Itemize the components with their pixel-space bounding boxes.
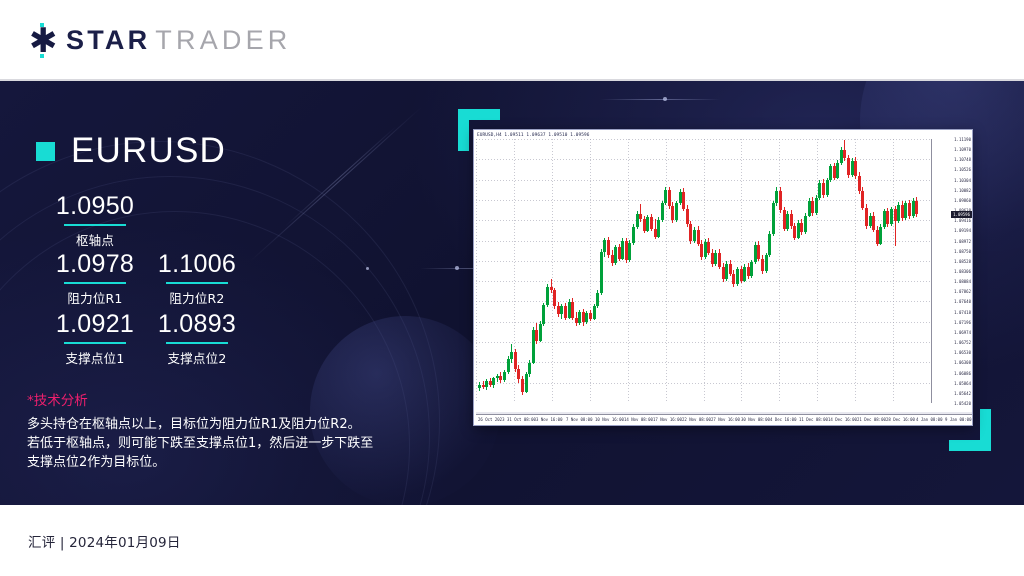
candle-body <box>732 274 735 285</box>
candle-body <box>614 247 617 263</box>
candlestick <box>804 139 807 403</box>
level-pivot-label: 枢轴点 <box>30 230 160 249</box>
time-axis-tick: 17 Nov 16:00 <box>653 417 682 423</box>
time-axis-tick: 7 Nov 08:00 <box>566 417 593 423</box>
candlestick <box>553 139 556 403</box>
time-axis-tick: 31 Oct 08:00 <box>507 417 536 423</box>
candle-body <box>671 206 674 220</box>
candle-body <box>714 253 717 264</box>
candle-body <box>725 264 728 279</box>
price-axis-tick: 1.07862 <box>954 289 971 294</box>
candlestick <box>829 139 832 403</box>
price-axis-tick: 1.11190 <box>954 137 971 142</box>
time-axis-tick: 10 Nov 16:00 <box>595 417 624 423</box>
candle-body <box>664 190 667 203</box>
analysis-title: *技术分析 <box>27 389 417 409</box>
time-axis-tick: 14 Dec 16:00 <box>828 417 857 423</box>
price-axis-tick: 1.05864 <box>954 381 971 386</box>
candlestick <box>725 139 728 403</box>
analysis-line-2: 若低于枢轴点，则可能下跌至支撑点位1，然后进一步下跌至 <box>27 434 417 453</box>
candle-body <box>596 293 599 306</box>
price-axis-tick: 1.09860 <box>954 198 971 203</box>
candle-body <box>521 379 524 391</box>
star-asterisk-icon: ✱ <box>26 20 60 60</box>
candlestick <box>682 139 685 403</box>
candlestick <box>528 139 531 403</box>
candle-body <box>811 201 814 213</box>
analysis-line-3: 支撑点位2作为目标位。 <box>27 453 417 472</box>
candlestick <box>492 139 495 403</box>
candlestick <box>585 139 588 403</box>
brand-wordmark: STAR TRADER <box>66 25 292 56</box>
chart-gridline-vertical <box>476 139 477 403</box>
candlestick <box>786 139 789 403</box>
candle-body <box>499 376 502 380</box>
chart-zone: EURUSD,H4 1.09511 1.09637 1.09510 1.0959… <box>443 109 1003 479</box>
candlestick <box>793 139 796 403</box>
candlestick-chart[interactable]: EURUSD,H4 1.09511 1.09637 1.09510 1.0959… <box>473 129 973 426</box>
candle-body <box>736 269 739 284</box>
candle-body <box>564 306 567 317</box>
candlestick <box>908 139 911 403</box>
level-s1-underline <box>64 342 126 344</box>
candlestick <box>779 139 782 403</box>
candlestick <box>718 139 721 403</box>
candlestick <box>621 139 624 403</box>
brand-name-bold: STAR <box>66 25 150 56</box>
candle-body <box>843 150 846 159</box>
candlestick <box>510 139 513 403</box>
candle-body <box>503 372 506 380</box>
candlestick <box>757 139 760 403</box>
candlestick <box>614 139 617 403</box>
bracket-tl-vertical <box>458 109 469 151</box>
candlestick <box>535 139 538 403</box>
brand-name-light: TRADER <box>155 25 291 56</box>
candle-body <box>886 211 889 224</box>
candlestick <box>632 139 635 403</box>
candlestick <box>872 139 875 403</box>
price-axis[interactable]: 1.111901.109701.107481.105261.103041.100… <box>931 139 972 403</box>
time-axis-tick: 27 Nov 16:00 <box>711 417 740 423</box>
level-r2-underline <box>166 282 228 284</box>
candle-body <box>528 363 531 374</box>
level-pivot-underline <box>64 224 126 226</box>
candle-body <box>750 262 753 276</box>
main-stage: EURUSD 1.0950 枢轴点 1.0978 阻力位R1 1.1006 阻力… <box>0 81 1024 505</box>
candlestick <box>675 139 678 403</box>
candle-body <box>786 214 789 229</box>
price-axis-tick: 1.10526 <box>954 167 971 172</box>
candlestick <box>657 139 660 403</box>
candle-body <box>553 290 556 306</box>
price-axis-tick: 1.10304 <box>954 178 971 183</box>
candlestick <box>596 139 599 403</box>
candlestick <box>897 139 900 403</box>
decor-hairline-2 <box>600 99 720 100</box>
time-axis-tick: 11 Dec 08:00 <box>799 417 828 423</box>
candlestick <box>499 139 502 403</box>
time-axis-tick: 14 Nov 08:00 <box>624 417 653 423</box>
price-axis-tick: 1.09194 <box>954 228 971 233</box>
time-axis-tick: 9 Jan 00:00 <box>945 417 972 423</box>
price-axis-tick: 1.08084 <box>954 279 971 284</box>
candle-body <box>757 245 760 259</box>
candlestick <box>664 139 667 403</box>
level-pivot: 1.0950 枢轴点 <box>30 191 160 249</box>
candle-body <box>861 191 864 208</box>
price-axis-tick: 1.07196 <box>954 320 971 325</box>
candle-body <box>693 230 696 241</box>
poster-root: ✱ STAR TRADER <box>0 0 1024 576</box>
price-axis-tick: 1.06974 <box>954 330 971 335</box>
candle-body <box>517 369 520 380</box>
candle-body <box>571 302 574 318</box>
candle-body <box>675 203 678 220</box>
candle-body <box>872 216 875 230</box>
candlestick <box>639 139 642 403</box>
candlestick <box>865 139 868 403</box>
candlestick <box>564 139 567 403</box>
price-axis-tick: 1.10970 <box>954 147 971 152</box>
candlestick <box>607 139 610 403</box>
price-axis-tick: 1.10748 <box>954 157 971 162</box>
candlestick <box>861 139 864 403</box>
logo-star-glyph: ✱ <box>29 28 55 54</box>
candlestick <box>854 139 857 403</box>
candlestick <box>775 139 778 403</box>
candlestick <box>915 139 918 403</box>
level-s2-label: 支撑点位2 <box>132 348 262 367</box>
price-axis-tick: 1.07418 <box>954 310 971 315</box>
candle-body <box>560 306 563 314</box>
candle-body <box>818 183 821 198</box>
candle-body <box>632 227 635 243</box>
level-r2-value: 1.1006 <box>132 249 262 279</box>
analysis-line-1: 多头持仓在枢轴点以上，目标位为阻力位R1及阻力位R2。 <box>27 415 417 434</box>
time-axis-tick: 3 Nov 16:00 <box>536 417 563 423</box>
brand-logo[interactable]: ✱ STAR TRADER <box>26 20 292 60</box>
level-s2: 1.0893 支撑点位2 <box>132 309 262 367</box>
price-axis-tick: 1.05642 <box>954 391 971 396</box>
time-axis-tick: 22 Nov 08:00 <box>682 417 711 423</box>
level-r2-label: 阻力位R2 <box>132 288 262 307</box>
time-axis-tick: 28 Dec 16:00 <box>886 417 915 423</box>
candlestick <box>822 139 825 403</box>
time-axis-tick: 4 Jan 08:00 <box>916 417 943 423</box>
candle-body <box>822 183 825 195</box>
price-axis-tick: 1.06530 <box>954 350 971 355</box>
page-header: ✱ STAR TRADER <box>0 0 1024 80</box>
candle-body <box>510 352 513 359</box>
candle-body <box>639 214 642 219</box>
candlestick <box>743 139 746 403</box>
candle-body <box>657 220 660 237</box>
candle-body <box>650 217 653 228</box>
candle-body <box>800 223 803 233</box>
bracket-br-vertical <box>980 409 991 451</box>
candle-body <box>718 253 721 267</box>
candle-body <box>542 305 545 323</box>
candle-body <box>743 267 746 281</box>
candlestick <box>843 139 846 403</box>
footer-caption: 汇评 | 2024年01月09日 <box>28 531 181 551</box>
candle-body <box>589 313 592 318</box>
candle-body <box>603 240 606 251</box>
candle-body <box>904 203 907 218</box>
candlestick <box>603 139 606 403</box>
candlestick <box>736 139 739 403</box>
candle-body <box>682 192 685 209</box>
candle-body <box>847 158 850 175</box>
candlestick <box>671 139 674 403</box>
price-axis-tick: 1.08750 <box>954 249 971 254</box>
candle-body <box>578 312 581 323</box>
candle-body <box>779 191 782 210</box>
price-axis-tick: 1.06752 <box>954 340 971 345</box>
candlestick <box>800 139 803 403</box>
candle-body <box>768 234 771 255</box>
candle-body <box>621 241 624 259</box>
price-axis-tick: 1.10082 <box>954 188 971 193</box>
level-r1-underline <box>64 282 126 284</box>
candlestick <box>503 139 506 403</box>
chart-header-label: EURUSD,H4 1.09511 1.09637 1.09510 1.0959… <box>477 132 589 139</box>
candle-body <box>908 203 911 216</box>
candle-body <box>689 224 692 241</box>
candle-body <box>836 163 839 178</box>
candlestick <box>517 139 520 403</box>
candlestick <box>750 139 753 403</box>
candlestick <box>714 139 717 403</box>
price-axis-tick: 1.06086 <box>954 371 971 376</box>
level-pivot-value: 1.0950 <box>30 191 160 221</box>
price-axis-tick: 1.08972 <box>954 239 971 244</box>
level-r2: 1.1006 阻力位R2 <box>132 249 262 307</box>
candle-body <box>607 240 610 255</box>
candlestick <box>478 139 481 403</box>
price-axis-tick: 1.08528 <box>954 259 971 264</box>
candle-body <box>478 385 481 388</box>
candle-body <box>646 217 649 230</box>
left-panel: EURUSD 1.0950 枢轴点 1.0978 阻力位R1 1.1006 阻力… <box>0 81 430 505</box>
candle-body <box>890 209 893 224</box>
candlestick <box>768 139 771 403</box>
candlestick <box>542 139 545 403</box>
level-s2-underline <box>166 342 228 344</box>
current-price-label: 1.09596 <box>951 211 972 218</box>
candle-body <box>585 313 588 322</box>
candlestick <box>886 139 889 403</box>
logo-square-bottom <box>40 54 44 58</box>
candlestick <box>761 139 764 403</box>
candle-body <box>854 161 857 176</box>
candlestick <box>560 139 563 403</box>
candle-body <box>707 242 710 253</box>
candle-body <box>492 378 495 385</box>
candle-body <box>829 166 832 180</box>
price-axis-tick: 1.05420 <box>954 401 971 406</box>
time-axis-tick: 26 Oct 2023 <box>478 417 505 423</box>
candlestick <box>818 139 821 403</box>
candlestick <box>689 139 692 403</box>
instrument-symbol: EURUSD <box>71 131 226 171</box>
candlestick <box>628 139 631 403</box>
candle-body <box>700 244 703 257</box>
instrument-heading: EURUSD <box>36 131 226 171</box>
time-axis[interactable]: 26 Oct 202331 Oct 08:003 Nov 16:007 Nov … <box>476 414 972 425</box>
candlestick <box>707 139 710 403</box>
price-axis-tick: 1.06308 <box>954 360 971 365</box>
candlestick <box>571 139 574 403</box>
candle-body <box>535 330 538 341</box>
page-footer: 汇评 | 2024年01月09日 <box>0 505 1024 576</box>
candle-body <box>628 243 631 261</box>
candlestick <box>646 139 649 403</box>
time-axis-tick: 21 Dec 08:00 <box>857 417 886 423</box>
candlestick <box>650 139 653 403</box>
price-axis-tick: 1.07640 <box>954 299 971 304</box>
candle-body <box>804 216 807 233</box>
candlestick <box>836 139 839 403</box>
candle-body <box>546 287 549 305</box>
price-axis-tick: 1.08306 <box>954 269 971 274</box>
candlestick <box>546 139 549 403</box>
candlestick <box>879 139 882 403</box>
candle-body <box>897 205 900 221</box>
time-axis-tick: 30 Nov 08:00 <box>741 417 770 423</box>
candle-body <box>761 259 764 271</box>
candlestick <box>732 139 735 403</box>
candlestick <box>811 139 814 403</box>
candlestick <box>890 139 893 403</box>
instrument-marker-square <box>36 142 55 161</box>
candle-body <box>879 227 882 244</box>
candlestick <box>904 139 907 403</box>
level-s2-value: 1.0893 <box>132 309 262 339</box>
candle-body <box>485 381 488 387</box>
time-axis-tick: 4 Dec 16:00 <box>770 417 797 423</box>
technical-analysis-block: *技术分析 多头持仓在枢轴点以上，目标位为阻力位R1及阻力位R2。 若低于枢轴点… <box>27 389 417 472</box>
candle-body <box>915 201 918 214</box>
candlestick <box>589 139 592 403</box>
candle-body <box>865 208 868 226</box>
candlestick <box>693 139 696 403</box>
candlestick <box>521 139 524 403</box>
chart-plot-area[interactable] <box>476 139 931 403</box>
candlestick <box>847 139 850 403</box>
candle-body <box>793 226 796 237</box>
candle-body <box>775 191 778 203</box>
candlestick <box>485 139 488 403</box>
price-axis-tick: 1.09416 <box>954 218 971 223</box>
candlestick <box>700 139 703 403</box>
candlestick <box>578 139 581 403</box>
